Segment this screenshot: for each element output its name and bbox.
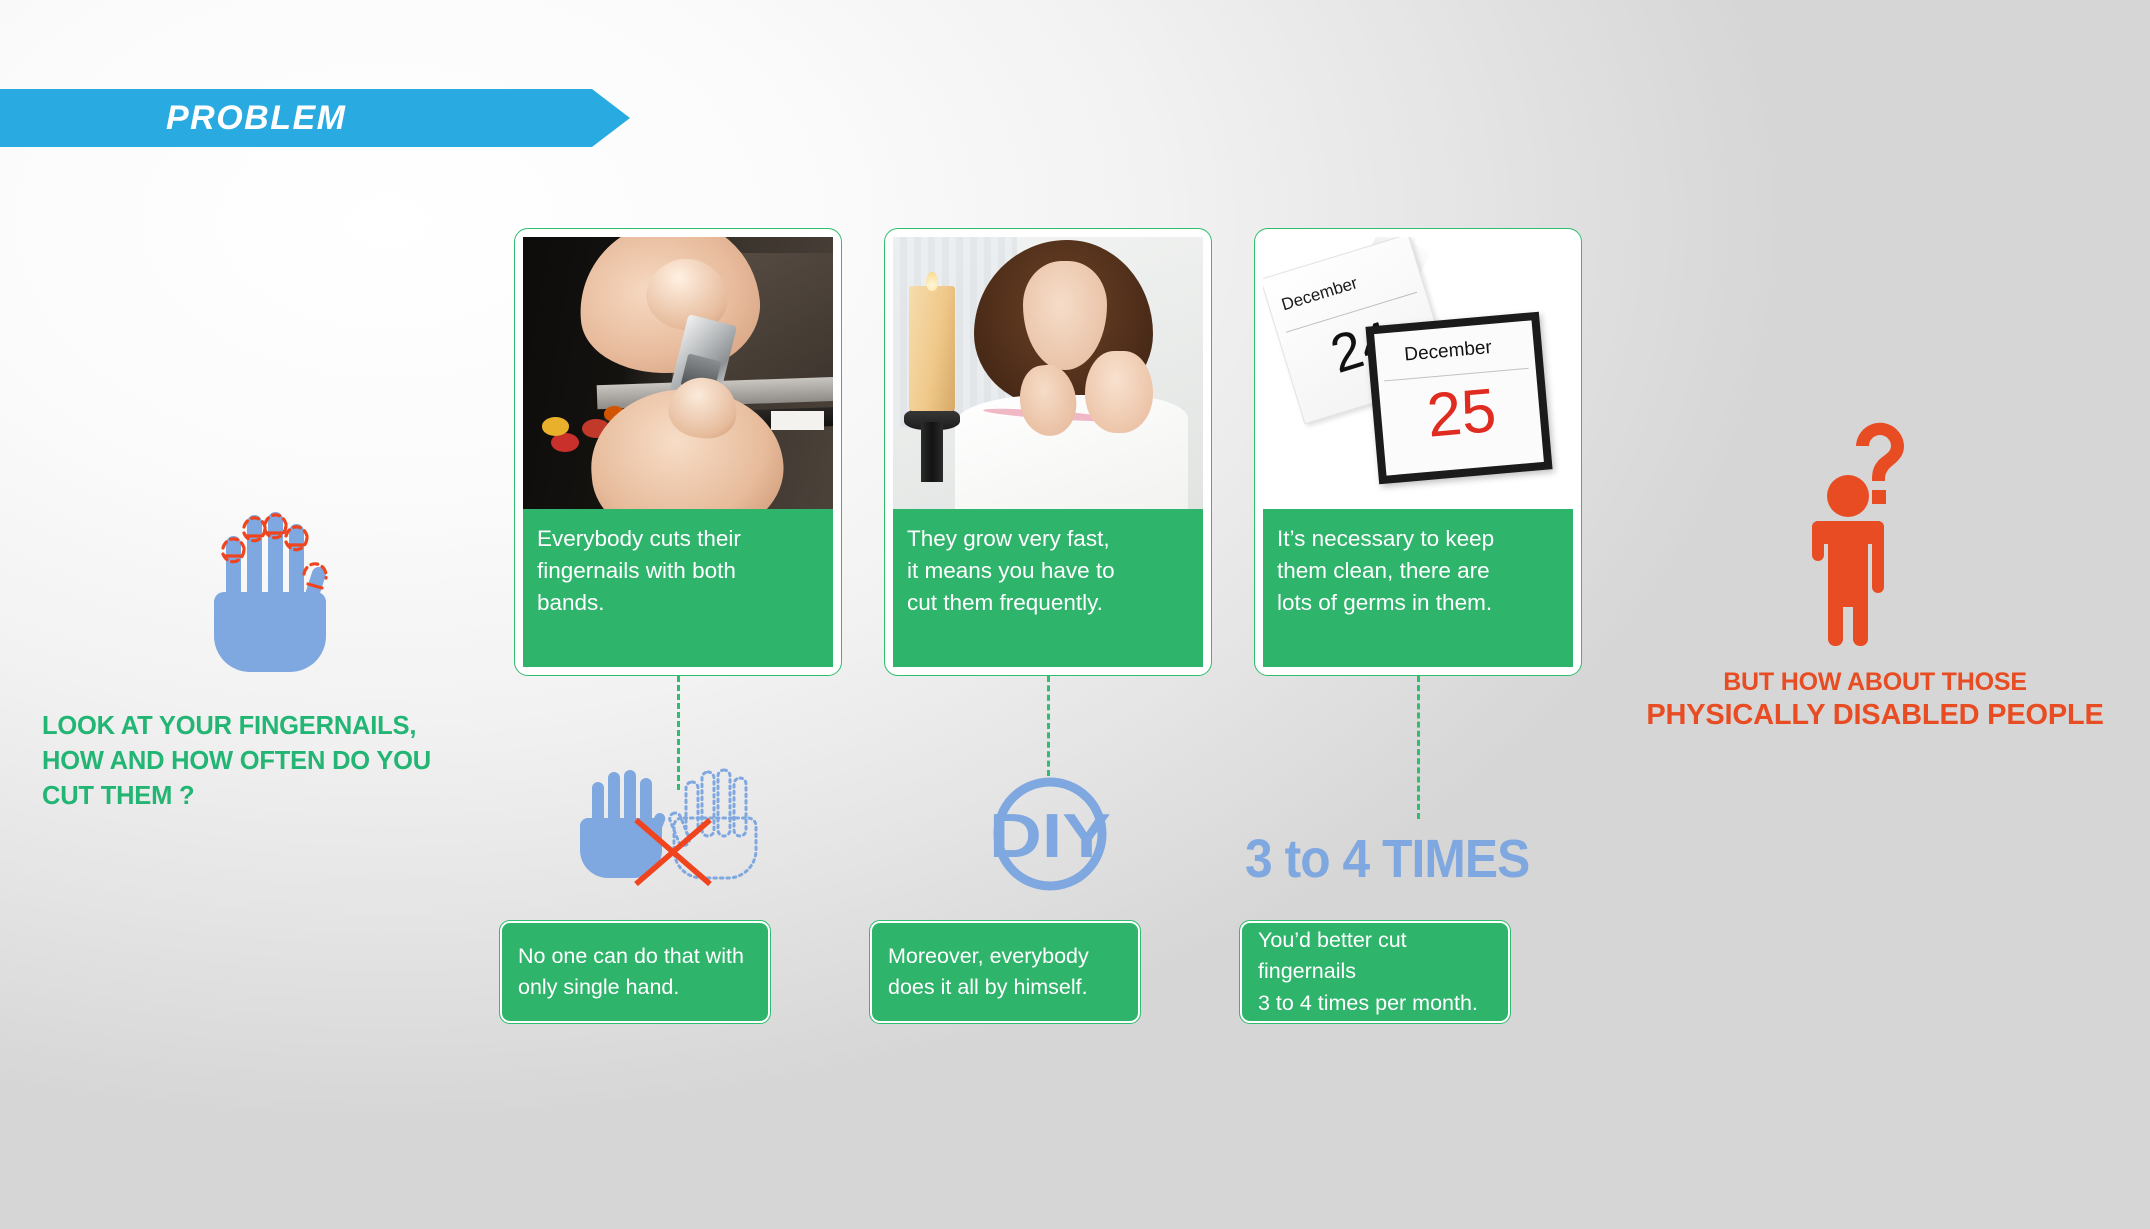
woman-admiring-hands-photo xyxy=(893,237,1203,509)
calendar-sheet-month: December xyxy=(1279,274,1360,316)
card-caption-text: It’s necessary to keep them clean, there… xyxy=(1263,509,1573,667)
nail-clipper-photo xyxy=(523,237,833,509)
box-single-hand[interactable]: No one can do that with only single hand… xyxy=(500,921,770,1023)
calendar-december-photo: December 24 December 25 xyxy=(1263,237,1573,509)
right-line-1: BUT HOW ABOUT THOSE xyxy=(1600,668,2150,697)
banner-label: PROBLEM xyxy=(0,99,347,138)
times-per-month-text: 3 to 4 TIMES xyxy=(1245,828,1576,890)
left-caption-text: LOOK AT YOUR FINGERNAILS, HOW AND HOW OF… xyxy=(42,709,562,815)
problem-banner: PROBLEM xyxy=(0,89,630,147)
diy-badge-icon: DIY xyxy=(955,775,1145,893)
left-intro-block: LOOK AT YOUR FINGERNAILS, HOW AND HOW OF… xyxy=(42,500,562,815)
right-conclusion-block: BUT HOW ABOUT THOSE PHYSICALLY DISABLED … xyxy=(1600,418,2150,732)
calendar-card-day: 25 xyxy=(1424,375,1499,452)
svg-text:DIY: DIY xyxy=(989,802,1111,871)
right-line-2: PHYSICALLY DISABLED PEOPLE xyxy=(1600,699,2150,732)
card-caption-text: They grow very fast, it means you have t… xyxy=(893,509,1203,667)
hand-with-nail-trim-marks-icon xyxy=(192,500,342,685)
connector-dashed-line-3 xyxy=(1417,676,1420,819)
card-nail-clipper[interactable]: Everybody cuts their fingernails with bo… xyxy=(514,228,842,676)
box-by-himself[interactable]: Moreover, everybody does it all by himse… xyxy=(870,921,1140,1023)
person-with-question-mark-icon xyxy=(1790,418,1960,648)
card-woman-hands[interactable]: They grow very fast, it means you have t… xyxy=(884,228,1212,676)
box-text: You’d better cut fingernails 3 to 4 time… xyxy=(1258,925,1492,1019)
box-text: No one can do that with only single hand… xyxy=(518,941,744,1003)
box-times-per-month[interactable]: You’d better cut fingernails 3 to 4 time… xyxy=(1240,921,1510,1023)
calendar-card-month: December xyxy=(1403,336,1492,366)
box-text: Moreover, everybody does it all by himse… xyxy=(888,941,1089,1003)
connector-dashed-line-2 xyxy=(1047,676,1050,776)
calendar-card-25: December 25 xyxy=(1365,311,1552,483)
card-caption-text: Everybody cuts their fingernails with bo… xyxy=(523,509,833,667)
two-hands-crossed-out-icon xyxy=(570,760,770,910)
card-calendar[interactable]: December 24 December 25 It’s necessary t… xyxy=(1254,228,1582,676)
